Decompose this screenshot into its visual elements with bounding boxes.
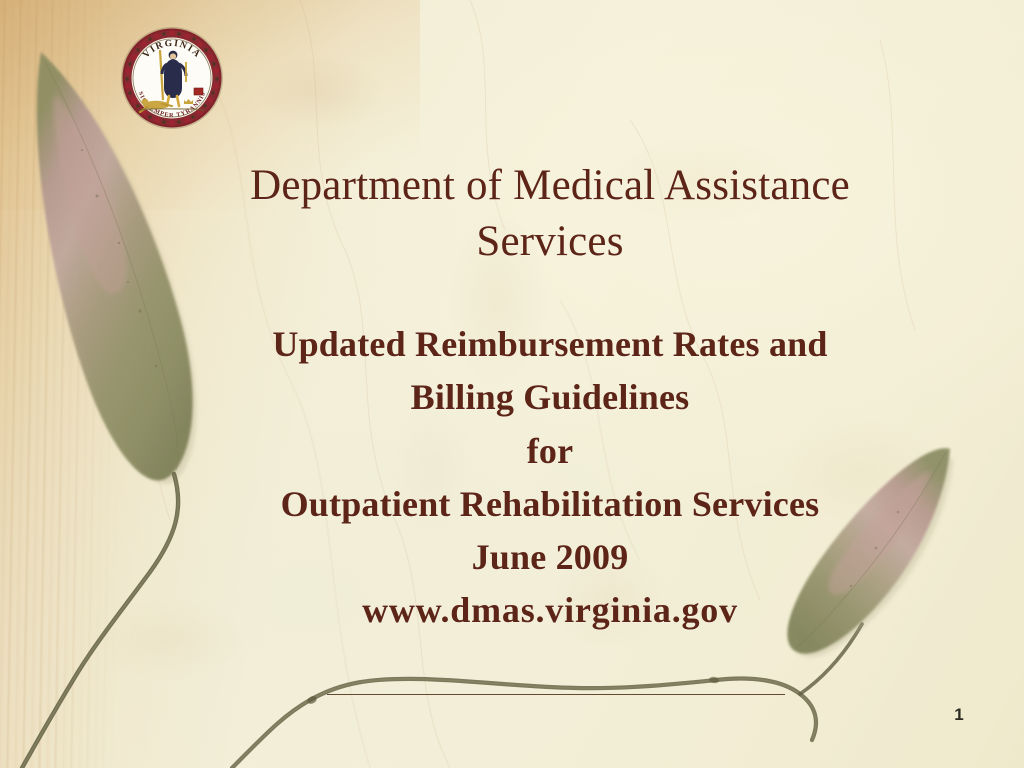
title-line-1: Department of Medical Assistance [150, 158, 950, 214]
website-url[interactable]: www.dmas.virginia.gov [150, 584, 950, 637]
subtitle-line-date: June 2009 [150, 531, 950, 584]
subtitle-line-service: Outpatient Rehabilitation Services [150, 478, 950, 531]
subtitle-line-guidelines: Billing Guidelines [150, 371, 950, 424]
virginia-state-seal-logo: VIRGINIA SIC SEMPER TYRANNIS [120, 26, 224, 130]
slide-subtitle: Updated Reimbursement Rates and Billing … [150, 318, 950, 638]
slide-title: Department of Medical Assistance Service… [150, 158, 950, 270]
presentation-slide: VIRGINIA SIC SEMPER TYRANNIS [0, 0, 1024, 768]
subtitle-line-rates: Updated Reimbursement Rates and [150, 318, 950, 371]
url-underline-rule [327, 694, 785, 695]
title-line-2: Services [150, 214, 950, 270]
subtitle-line-for: for [150, 425, 950, 478]
slide-number: 1 [944, 705, 974, 725]
